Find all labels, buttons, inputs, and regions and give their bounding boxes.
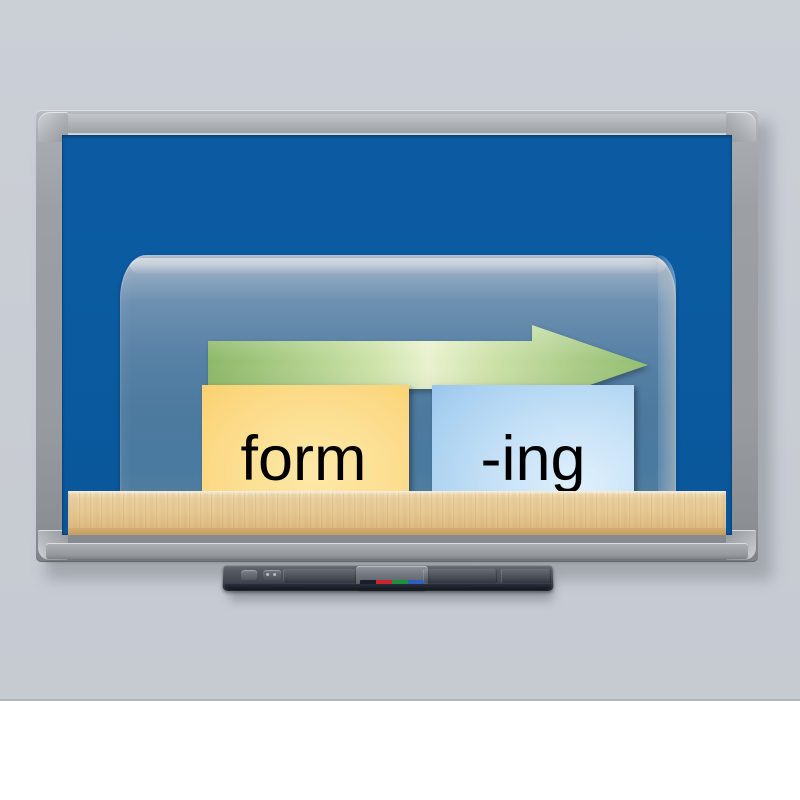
panel-gloss-highlight [130, 258, 666, 274]
word-card-ing-label: -ing [480, 423, 585, 495]
interactive-whiteboard[interactable]: form -ing [36, 110, 766, 572]
pen-tray-body [222, 565, 553, 591]
frame-bottom-rail-shadow [46, 558, 748, 562]
pen-slot-3[interactable] [501, 569, 551, 583]
pen-slot-2[interactable] [423, 569, 497, 583]
frame-bottom-rail [46, 543, 748, 559]
frame-top-rail [54, 114, 740, 134]
wall-floor-divider [0, 699, 800, 701]
screenshot-root: form -ing [0, 0, 800, 800]
wooden-ledge-front-edge [68, 528, 726, 535]
pen-tray-lip [224, 584, 551, 590]
pen-tray[interactable] [223, 565, 553, 600]
board-screen[interactable]: form -ing [62, 135, 732, 535]
power-icon[interactable] [241, 570, 257, 580]
word-card-form-label: form [241, 423, 367, 495]
wooden-ledge [68, 491, 726, 535]
board-frame: form -ing [36, 110, 758, 562]
